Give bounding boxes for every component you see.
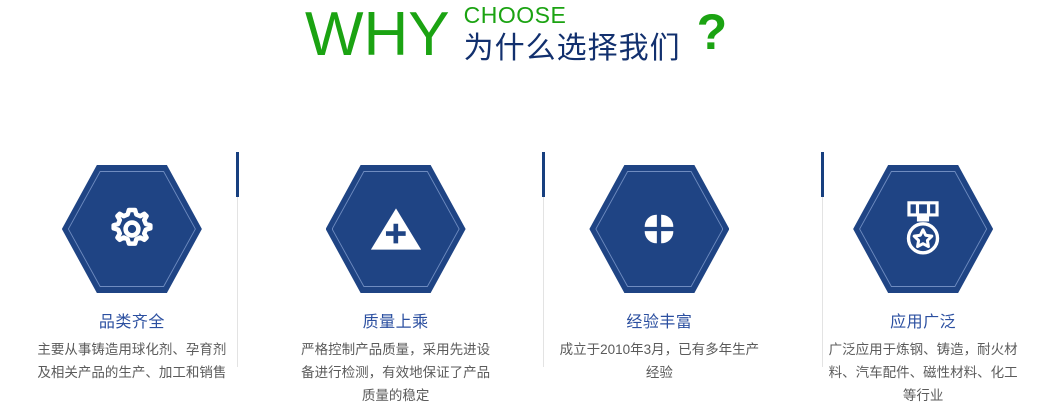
medal-icon — [853, 165, 993, 293]
feature-card-title: 质量上乘 — [363, 313, 429, 333]
feature-cards-row: 品类齐全 主要从事铸造用球化剂、孕育剂及相关产品的生产、加工和销售 质量上乘 严… — [0, 150, 1055, 416]
feature-card-title: 应用广泛 — [890, 313, 956, 333]
feature-card-description: 主要从事铸造用球化剂、孕育剂及相关产品的生产、加工和销售 — [32, 338, 232, 384]
header-choose-word: CHOOSE — [464, 2, 681, 28]
card-divider-1 — [236, 152, 239, 416]
header-inner: WHY CHOOSE 为什么选择我们 ? — [305, 0, 727, 68]
header-question-mark: ? — [697, 6, 728, 62]
feature-card-title: 经验丰富 — [626, 313, 692, 333]
feature-card-description: 严格控制产品质量，采用先进设备进行检测，有效地保证了产品质量的稳定 — [296, 338, 496, 407]
triangle-plus-icon — [326, 165, 466, 293]
feature-card-4[interactable]: 应用广泛 广泛应用于炼钢、铸造，耐火材料、汽车配件、磁性材料、化工等行业 — [791, 150, 1055, 416]
divider-gray-segment — [822, 197, 823, 367]
feature-card-description: 广泛应用于炼钢、铸造，耐火材料、汽车配件、磁性材料、化工等行业 — [823, 338, 1023, 407]
header-chinese-title: 为什么选择我们 — [464, 30, 681, 68]
header-why-word: WHY — [305, 0, 450, 67]
hexagon-badge — [62, 165, 202, 293]
divider-blue-segment — [236, 152, 239, 197]
header-text-stack: CHOOSE 为什么选择我们 — [464, 0, 681, 68]
divider-gray-segment — [543, 197, 544, 367]
hexagon-badge — [326, 165, 466, 293]
divider-gray-segment — [237, 197, 238, 367]
card-divider-2 — [542, 152, 545, 416]
hexagon-badge — [853, 165, 993, 293]
divider-blue-segment — [821, 152, 824, 197]
clover-icon — [589, 165, 729, 293]
feature-card-description: 成立于2010年3月，已有多年生产经验 — [559, 338, 759, 384]
feature-card-3[interactable]: 经验丰富 成立于2010年3月，已有多年生产经验 — [528, 150, 792, 416]
feature-card-title: 品类齐全 — [99, 313, 165, 333]
hexagon-badge — [589, 165, 729, 293]
feature-card-1[interactable]: 品类齐全 主要从事铸造用球化剂、孕育剂及相关产品的生产、加工和销售 — [0, 150, 264, 416]
divider-blue-segment — [542, 152, 545, 197]
card-divider-3 — [821, 152, 824, 416]
gear-icon — [62, 165, 202, 293]
page-header: WHY CHOOSE 为什么选择我们 ? — [0, 0, 1055, 100]
feature-card-2[interactable]: 质量上乘 严格控制产品质量，采用先进设备进行检测，有效地保证了产品质量的稳定 — [264, 150, 528, 416]
